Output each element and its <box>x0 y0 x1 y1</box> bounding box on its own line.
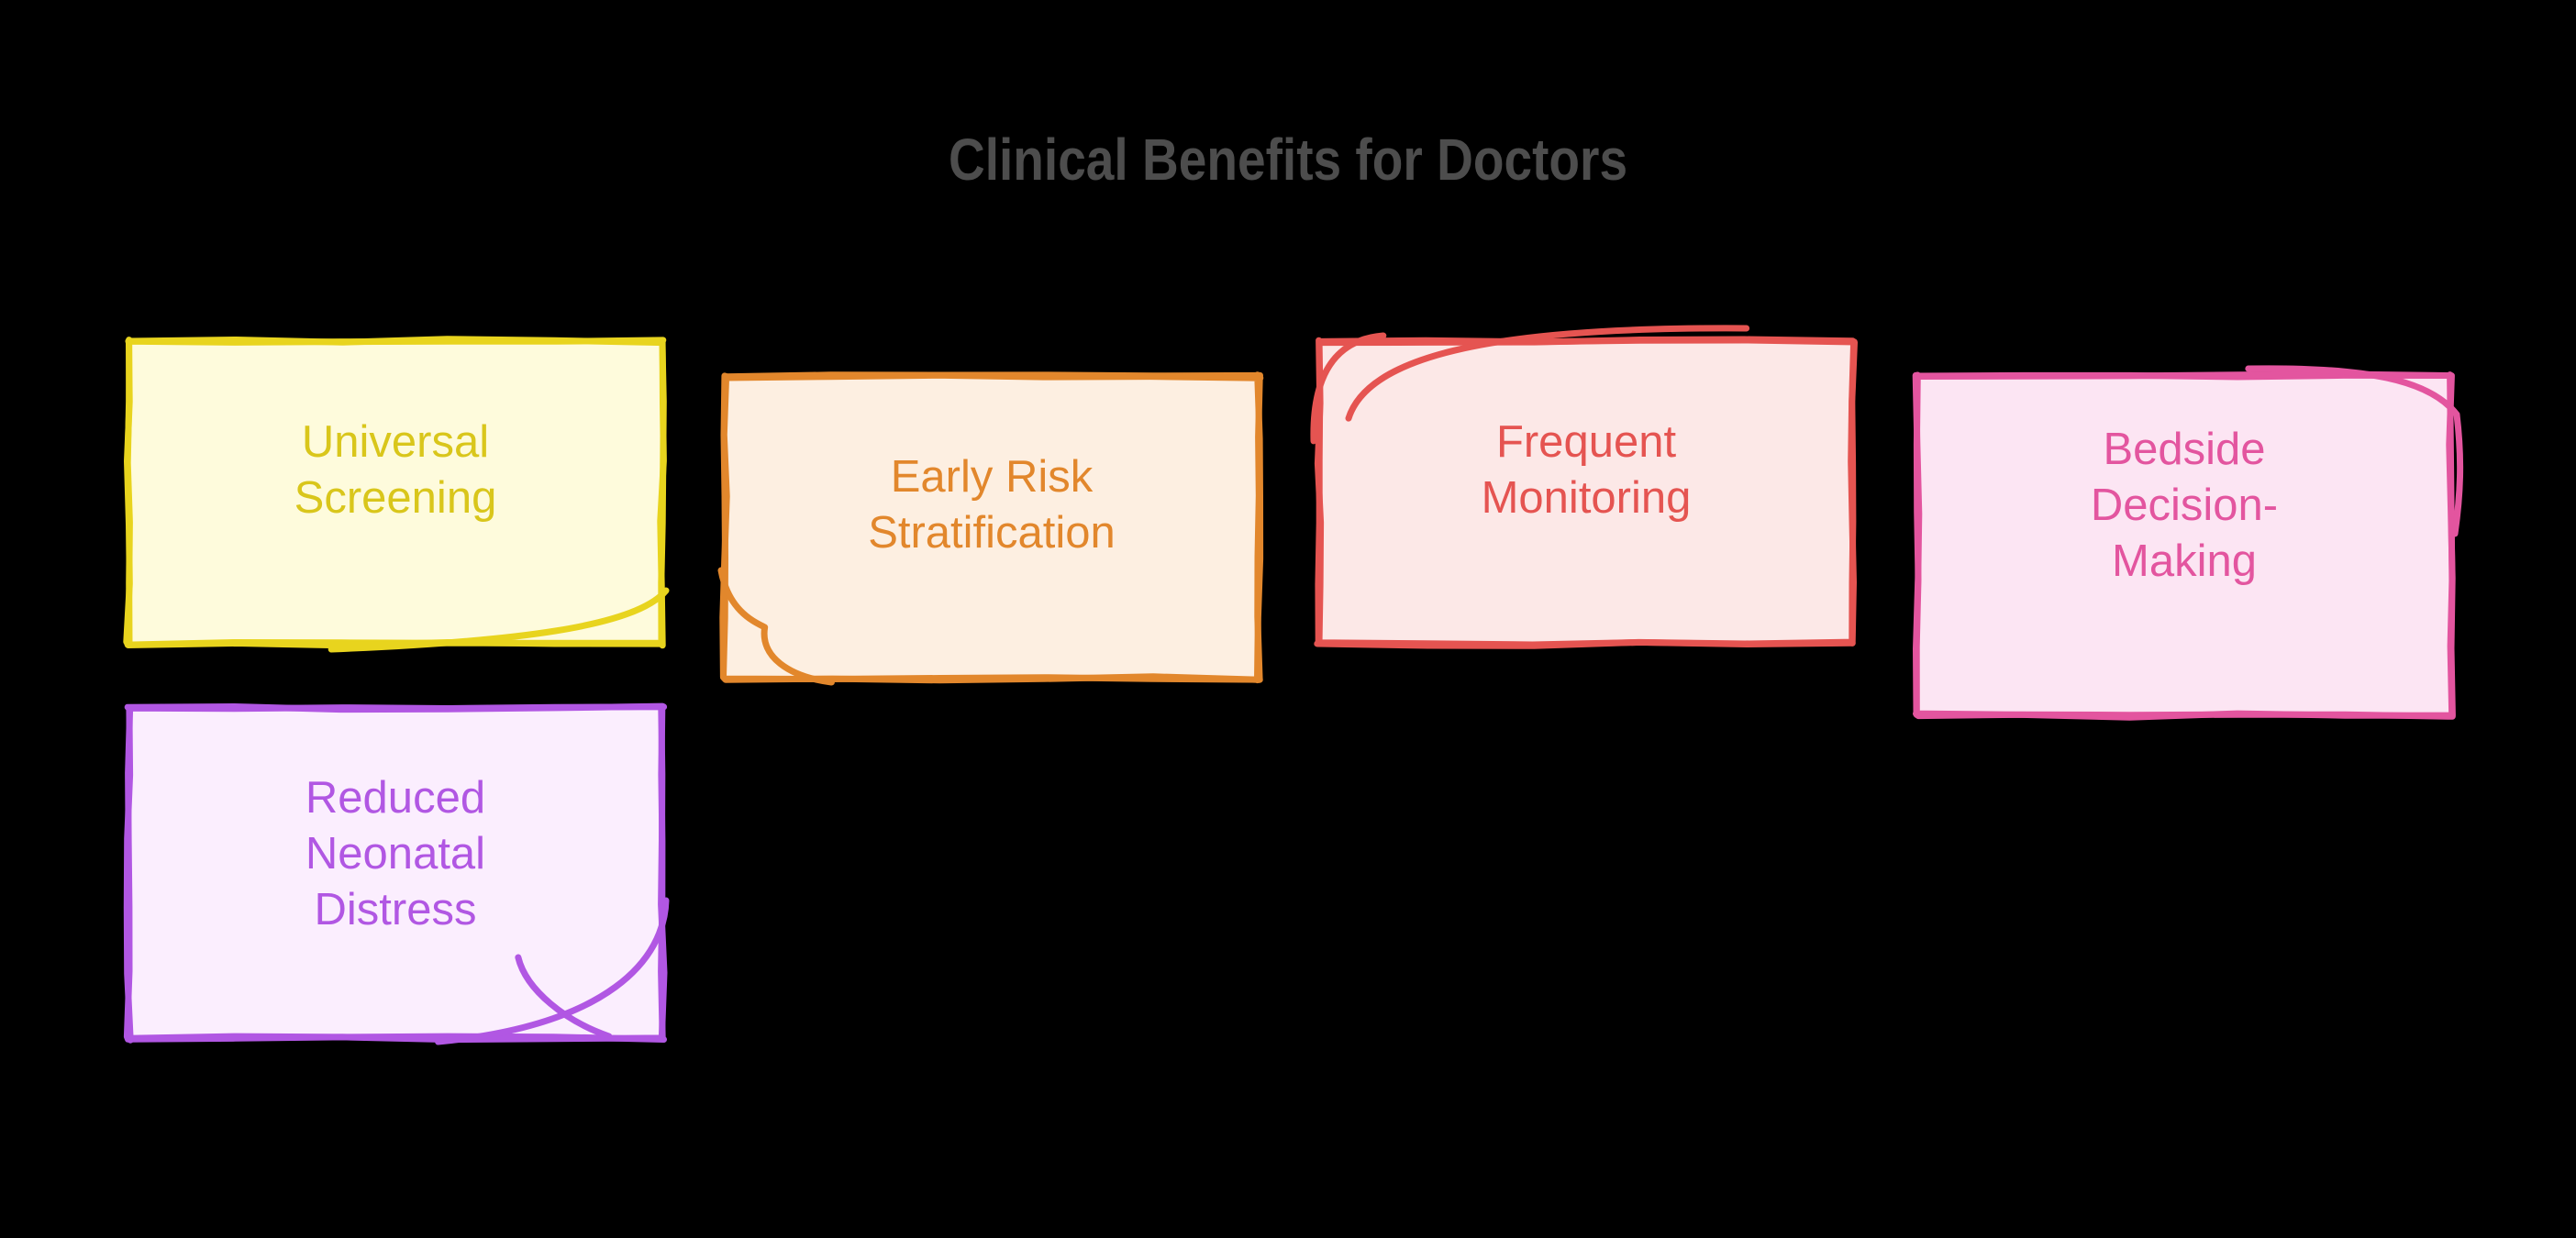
node-reduced-neonatal-distress[interactable]: Reduced Neonatal Distress <box>73 653 717 1093</box>
node-fill <box>1318 340 1854 645</box>
node-shape-frequent-monitoring <box>1264 286 1908 699</box>
node-fill <box>1916 375 2452 716</box>
node-fill <box>724 376 1260 680</box>
node-frequent-monitoring[interactable]: Frequent Monitoring <box>1264 286 1908 699</box>
node-shape-universal-screening <box>73 286 717 699</box>
node-shape-early-risk-stratification <box>670 321 1314 734</box>
page-title: Clinical Benefits for Doctors <box>181 130 2396 189</box>
node-shape-bedside-decision-making <box>1862 321 2506 770</box>
node-early-risk-stratification[interactable]: Early Risk Stratification <box>670 321 1314 734</box>
node-fill <box>128 707 663 1039</box>
diagram-canvas: Clinical Benefits for Doctors Universal … <box>0 0 2576 1238</box>
node-fill <box>128 340 663 645</box>
node-bedside-decision-making[interactable]: Bedside Decision- Making <box>1862 321 2506 770</box>
node-shape-reduced-neonatal-distress <box>73 653 717 1093</box>
node-universal-screening[interactable]: Universal Screening <box>73 286 717 699</box>
